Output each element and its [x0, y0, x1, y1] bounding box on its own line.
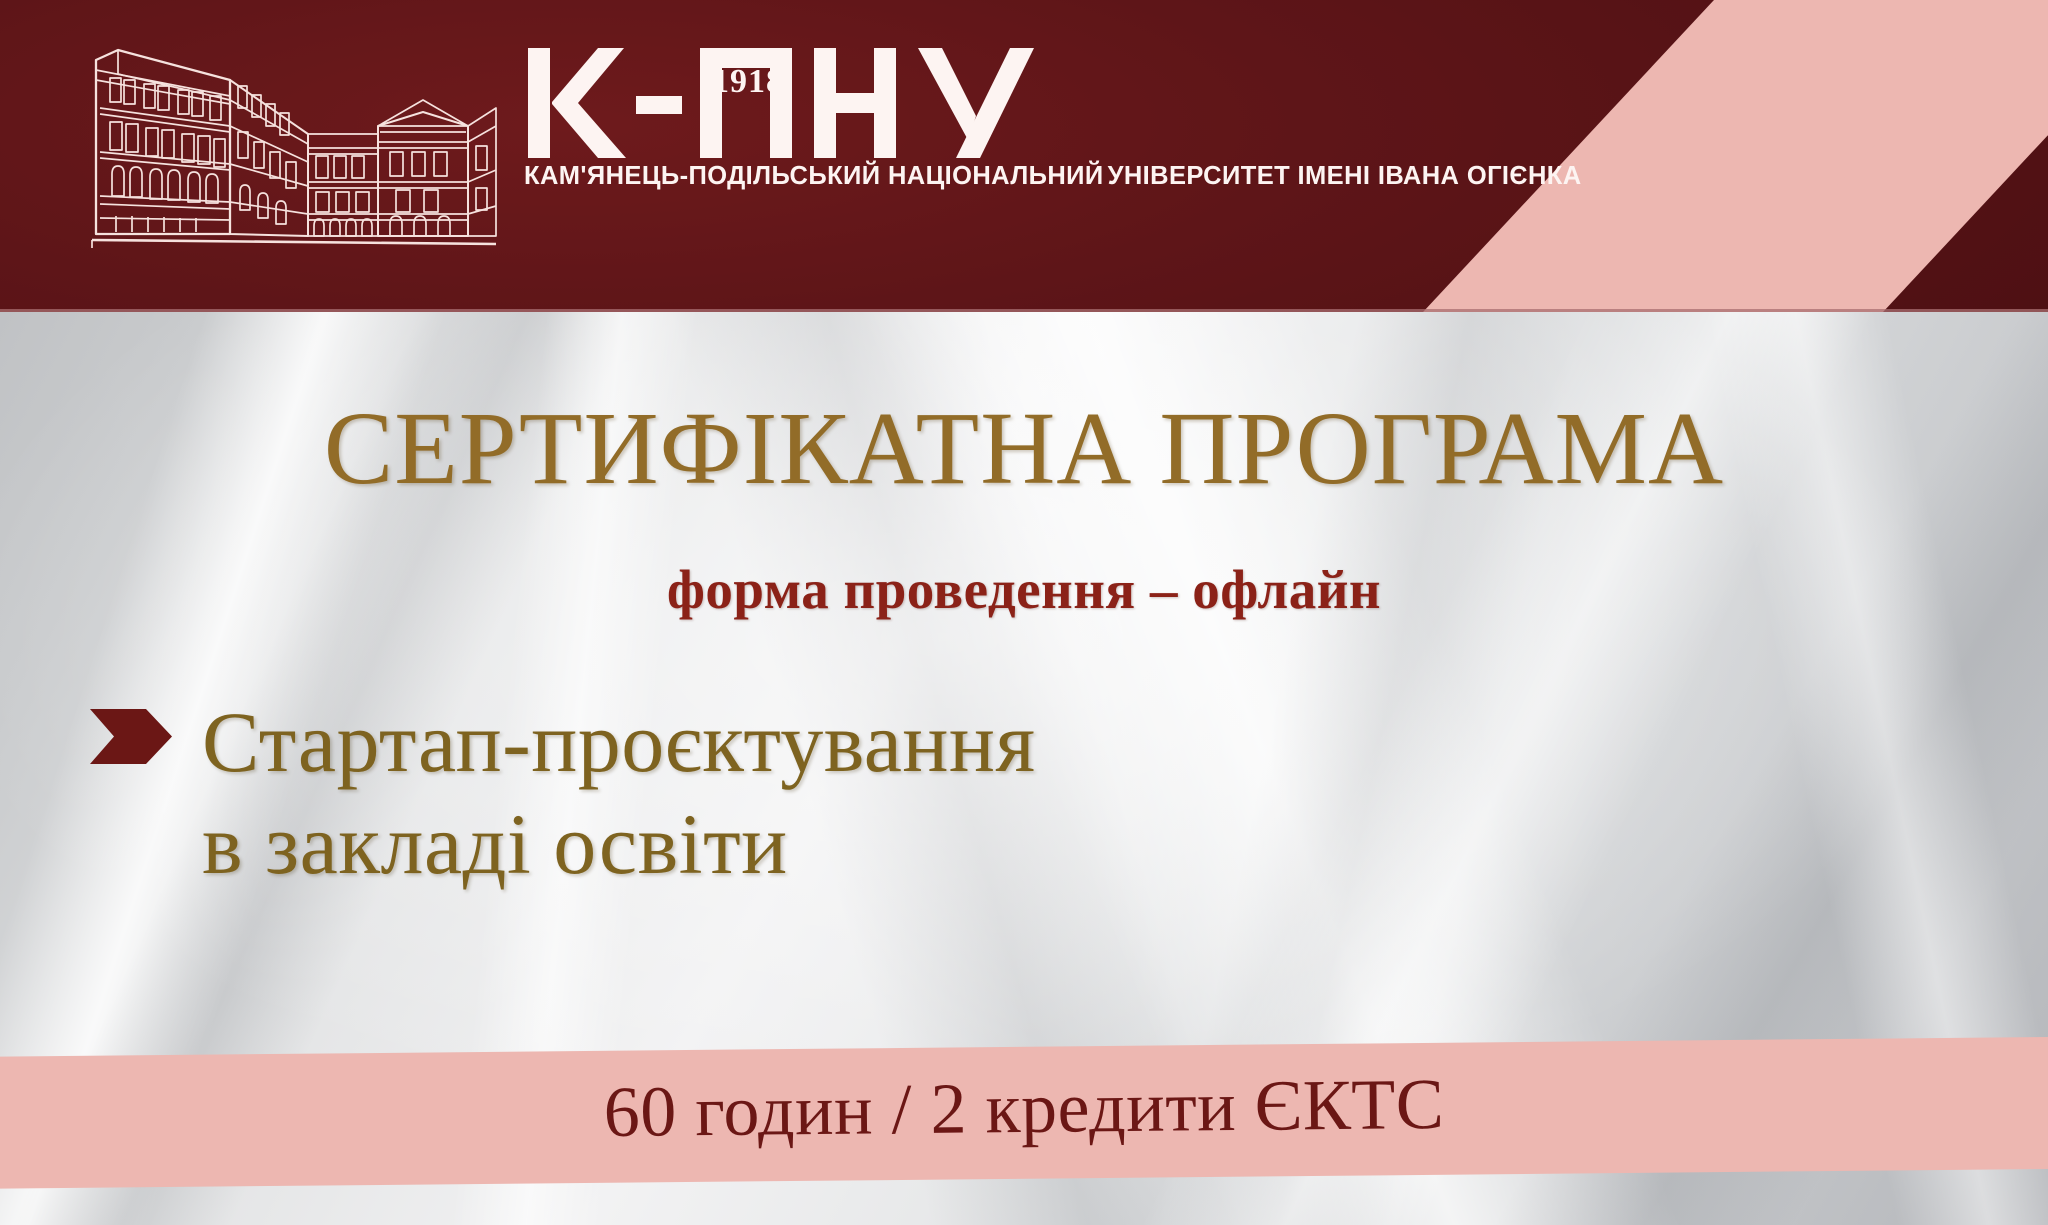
logo-abbreviation: 1918: [524, 44, 1582, 162]
certificate-program-poster: 1918 КАМ'ЯНЕЦЬ-ПОДІЛЬСЬКИЙ НАЦІОНАЛЬНИЙ …: [0, 0, 2048, 1225]
logo-name-line-1: КАМ'ЯНЕЦЬ-ПОДІЛЬСЬКИЙ НАЦІОНАЛЬНИЙ: [524, 162, 1104, 190]
logo-wordmark: 1918 КАМ'ЯНЕЦЬ-ПОДІЛЬСЬКИЙ НАЦІОНАЛЬНИЙ …: [524, 22, 1582, 191]
program-title-row: Стартап-проєктування: [90, 687, 1590, 797]
program-title-line-2: в закладі освіти: [202, 789, 1590, 899]
poster-header: 1918 КАМ'ЯНЕЦЬ-ПОДІЛЬСЬКИЙ НАЦІОНАЛЬНИЙ …: [0, 0, 2048, 312]
university-logo[interactable]: 1918 КАМ'ЯНЕЦЬ-ПОДІЛЬСЬКИЙ НАЦІОНАЛЬНИЙ …: [78, 22, 1582, 259]
program-title-line-1: Стартап-проєктування: [202, 687, 1036, 797]
chevron-right-marker-icon: [90, 709, 172, 769]
svg-text:1918: 1918: [712, 63, 784, 100]
poster-subline: форма проведення – офлайн: [0, 562, 2048, 617]
program-title-block: Стартап-проєктування в закладі освіти: [90, 687, 1590, 899]
poster-headline: СЕРТИФІКАТНА ПРОГРАМА: [0, 397, 2048, 501]
logo-name-line-2: УНІВЕРСИТЕТ ІМЕНІ ІВАНА ОГІЄНКА: [1108, 162, 1582, 190]
university-building-icon: [78, 22, 498, 259]
